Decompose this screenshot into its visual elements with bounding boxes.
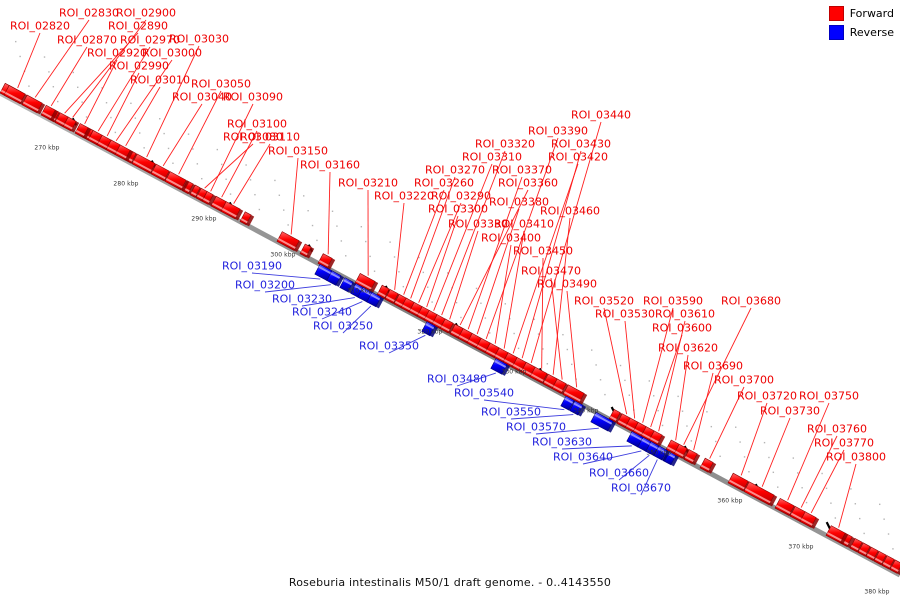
leader-line: [625, 321, 635, 418]
gene-label: ROI_03760: [807, 424, 867, 435]
gene-label: ROI_03620: [658, 343, 718, 354]
minor-tick-dot: [629, 395, 630, 396]
minor-tick-dot: [28, 85, 29, 86]
leader-line: [328, 172, 330, 254]
gene-label: ROI_03700: [714, 375, 774, 386]
minor-tick-dot: [423, 272, 424, 273]
gene-label: ROI_03030: [169, 34, 229, 45]
gene-label: ROI_03200: [235, 280, 295, 291]
gene-label: ROI_03110: [240, 132, 300, 143]
minor-tick-dot: [283, 209, 284, 210]
axis-tick-label: 370 kbp: [788, 544, 813, 551]
gene-label: ROI_03210: [338, 178, 398, 189]
minor-tick-dot: [489, 332, 490, 333]
minor-tick-dot: [706, 411, 707, 412]
gene-label: ROI_03230: [272, 294, 332, 305]
minor-tick-dot: [53, 86, 54, 87]
gene-label: ROI_03530: [595, 309, 655, 320]
minor-tick-dot: [259, 209, 260, 210]
axis-tick-label: 310 kbp: [347, 288, 372, 295]
minor-tick-dot: [398, 271, 399, 272]
gene-label: ROI_03460: [540, 206, 600, 217]
gene-label: ROI_03570: [506, 422, 566, 433]
minor-tick-dot: [130, 103, 131, 104]
axis-tick-label: 360 kbp: [717, 498, 742, 505]
minor-tick-dot: [431, 301, 432, 302]
minor-tick-dot: [657, 410, 658, 411]
leader-line: [495, 245, 511, 344]
minor-tick-dot: [365, 241, 366, 242]
gene-label: ROI_02990: [109, 61, 169, 72]
minor-tick-dot: [715, 441, 716, 442]
minor-tick-dot: [624, 380, 625, 381]
minor-tick-dot: [307, 210, 308, 211]
minor-tick-dot: [110, 117, 111, 118]
gene-label: ROI_03670: [611, 483, 671, 494]
minor-tick-dot: [389, 241, 390, 242]
minor-tick-dot: [855, 503, 856, 504]
gene-label: ROI_03480: [427, 374, 487, 385]
minor-tick-dot: [77, 87, 78, 88]
minor-tick-dot: [427, 287, 428, 288]
gene-label: ROI_02830: [59, 8, 119, 19]
minor-tick-dot: [159, 118, 160, 119]
leader-line: [788, 403, 829, 500]
minor-tick-dot: [245, 164, 246, 165]
minor-tick-dot: [336, 225, 337, 226]
leader-line: [839, 464, 856, 528]
legend-item-forward: Forward: [829, 6, 894, 21]
minor-tick-dot: [649, 380, 650, 381]
minor-tick-dot: [662, 425, 663, 426]
minor-tick-dot: [801, 487, 802, 488]
gene-label: ROI_03630: [532, 437, 592, 448]
axis-tick-label: 300 kbp: [270, 252, 295, 259]
minor-tick-dot: [691, 440, 692, 441]
gene-label: ROI_03680: [721, 296, 781, 307]
minor-tick-dot: [143, 147, 144, 148]
gene-label: ROI_03370: [492, 165, 552, 176]
minor-tick-dot: [748, 471, 749, 472]
minor-tick-dot: [168, 148, 169, 149]
leader-line: [659, 321, 685, 431]
gene-label: ROI_03520: [574, 296, 634, 307]
legend-label-reverse: Reverse: [850, 26, 894, 39]
minor-tick-dot: [201, 178, 202, 179]
minor-tick-dot: [345, 255, 346, 256]
gene-label: ROI_03770: [814, 438, 874, 449]
axis-tick-label: 280 kbp: [113, 181, 138, 188]
minor-tick-dot: [332, 211, 333, 212]
minor-tick-dot: [115, 132, 116, 133]
gene-label: ROI_03430: [551, 139, 611, 150]
gene-label: ROI_03250: [313, 321, 373, 332]
gene-label: ROI_03610: [655, 309, 715, 320]
gene-label: ROI_03470: [521, 266, 581, 277]
gene-label: ROI_03010: [130, 75, 190, 86]
gene-label: ROI_03720: [737, 391, 797, 402]
gene-label: ROI_03640: [553, 452, 613, 463]
minor-tick-dot: [513, 333, 514, 334]
minor-tick-dot: [595, 364, 596, 365]
leader-line: [513, 164, 578, 353]
gene-label: ROI_03440: [571, 110, 631, 121]
axis-tick-label: 290 kbp: [191, 216, 216, 223]
minor-tick-dot: [686, 425, 687, 426]
minor-tick-dot: [361, 226, 362, 227]
gene-label: ROI_03300: [428, 204, 488, 215]
gene-label: ROI_03390: [528, 126, 588, 137]
minor-tick-dot: [480, 303, 481, 304]
legend-item-reverse: Reverse: [829, 25, 894, 40]
leader-line: [450, 231, 478, 319]
minor-tick-dot: [403, 286, 404, 287]
minor-tick-dot: [279, 195, 280, 196]
gene-label: ROI_03350: [359, 341, 419, 352]
minor-tick-dot: [456, 302, 457, 303]
gene-label: ROI_02820: [10, 21, 70, 32]
minor-tick-dot: [883, 518, 884, 519]
minor-tick-dot: [287, 224, 288, 225]
minor-tick-dot: [806, 502, 807, 503]
minor-tick-dot: [542, 348, 543, 349]
gene-label: ROI_03590: [643, 296, 703, 307]
minor-tick-dot: [892, 548, 893, 549]
minor-tick-dot: [485, 317, 486, 318]
gene-label: ROI_03800: [826, 452, 886, 463]
minor-tick-dot: [374, 271, 375, 272]
minor-tick-dot: [744, 456, 745, 457]
minor-tick-dot: [571, 364, 572, 365]
minor-tick-dot: [830, 502, 831, 503]
minor-tick-dot: [81, 101, 82, 102]
gene-label: ROI_03540: [454, 388, 514, 399]
minor-tick-dot: [221, 164, 222, 165]
minor-tick-dot: [620, 365, 621, 366]
minor-tick-dot: [735, 427, 736, 428]
gene-label: ROI_03420: [548, 152, 608, 163]
axis-tick-label: 340 kbp: [573, 408, 598, 415]
figure-caption: Roseburia intestinalis M50/1 draft genom…: [0, 576, 900, 589]
gene-label: ROI_03450: [513, 246, 573, 257]
gene-label: ROI_03220: [374, 191, 434, 202]
minor-tick-dot: [505, 303, 506, 304]
minor-tick-dot: [768, 457, 769, 458]
minor-tick-dot: [826, 488, 827, 489]
minor-tick-dot: [547, 363, 548, 364]
minor-tick-dot: [653, 395, 654, 396]
minor-tick-dot: [217, 149, 218, 150]
minor-tick-dot: [44, 56, 45, 57]
gene-label: ROI_03270: [425, 165, 485, 176]
minor-tick-dot: [863, 533, 864, 534]
axis-tick-label: 270 kbp: [34, 145, 59, 152]
genome-diagram-figure: 270 kbp280 kbp290 kbp300 kbp310 kbp320 k…: [0, 0, 900, 600]
minor-tick-dot: [274, 180, 275, 181]
gene-feature-blocks: [0, 83, 900, 575]
gene-label: ROI_03160: [300, 160, 360, 171]
minor-tick-dot: [139, 132, 140, 133]
leader-line: [163, 104, 202, 166]
gene-label: ROI_03090: [223, 92, 283, 103]
minor-tick-dot: [57, 101, 58, 102]
gene-label: ROI_03290: [431, 191, 491, 202]
minor-tick-dot: [682, 411, 683, 412]
minor-tick-dot: [567, 349, 568, 350]
minor-tick-dot: [777, 486, 778, 487]
gene-label: ROI_03150: [268, 146, 328, 157]
leader-line: [694, 373, 713, 450]
legend-label-forward: Forward: [850, 7, 894, 20]
minor-tick-dot: [797, 472, 798, 473]
minor-tick-dot: [562, 334, 563, 335]
leader-line: [291, 158, 298, 234]
reverse-color-swatch: [829, 25, 844, 40]
minor-tick-dot: [764, 442, 765, 443]
minor-tick-dot: [879, 504, 880, 505]
leader-line: [18, 33, 40, 88]
minor-tick-dot: [518, 348, 519, 349]
label-leader-lines: [18, 20, 856, 528]
gene-label: ROI_03490: [537, 279, 597, 290]
minor-tick-dot: [19, 56, 20, 57]
strand-legend: Forward Reverse: [829, 6, 894, 40]
leader-line: [205, 144, 253, 188]
gene-label: ROI_03750: [799, 391, 859, 402]
minor-tick-dot: [369, 256, 370, 257]
minor-tick-dot: [230, 193, 231, 194]
gene-label: ROI_03190: [222, 261, 282, 272]
gene-label: ROI_03310: [462, 152, 522, 163]
leader-line: [234, 144, 270, 204]
minor-tick-dot: [163, 133, 164, 134]
minor-tick-dot: [591, 349, 592, 350]
minor-tick-dot: [859, 518, 860, 519]
gene-label: ROI_03730: [760, 406, 820, 417]
gene-label: ROI_03600: [652, 323, 712, 334]
minor-tick-dot: [821, 473, 822, 474]
gene-label: ROI_03400: [481, 233, 541, 244]
axis-tick-label: 350 kbp: [646, 450, 671, 457]
gene-label: ROI_03550: [481, 407, 541, 418]
minor-tick-dot: [15, 41, 16, 42]
leader-line: [126, 87, 160, 146]
forward-color-swatch: [829, 6, 844, 21]
leader-line: [51, 47, 87, 106]
minor-tick-dot: [172, 163, 173, 164]
minor-tick-dot: [197, 163, 198, 164]
minor-tick-dot: [711, 426, 712, 427]
minor-tick-dot: [254, 194, 255, 195]
gene-label: ROI_03100: [227, 119, 287, 130]
leader-line: [395, 203, 404, 290]
minor-tick-dot: [312, 225, 313, 226]
minor-tick-dot: [394, 256, 395, 257]
minor-tick-dot: [73, 72, 74, 73]
minor-tick-dot: [135, 117, 136, 118]
minor-tick-dot: [316, 240, 317, 241]
minor-tick-dot: [739, 441, 740, 442]
minor-tick-dot: [850, 488, 851, 489]
gene-label: ROI_03660: [589, 468, 649, 479]
minor-tick-dot: [835, 517, 836, 518]
gene-label: ROI_02900: [116, 8, 176, 19]
axis-tick-label: 380 kbp: [864, 589, 889, 596]
minor-tick-dot: [677, 396, 678, 397]
minor-tick-dot: [106, 102, 107, 103]
minor-tick-dot: [48, 71, 49, 72]
minor-tick-dot: [250, 179, 251, 180]
minor-tick-dot: [192, 148, 193, 149]
gene-label: ROI_03320: [475, 139, 535, 150]
gene-label: ROI_03360: [498, 178, 558, 189]
leader-line: [604, 308, 627, 414]
leader-line: [551, 278, 562, 380]
minor-tick-dot: [719, 456, 720, 457]
axis-tick-label: 330 kbp: [501, 369, 526, 376]
gene-label: ROI_03410: [494, 219, 554, 230]
gene-label: ROI_02870: [57, 35, 117, 46]
minor-tick-dot: [600, 379, 601, 380]
minor-tick-dot: [341, 240, 342, 241]
gene-label: ROI_02890: [108, 21, 168, 32]
axis-tick-label: 320 kbp: [417, 329, 442, 336]
gene-label: ROI_03260: [414, 178, 474, 189]
gene-label: ROI_02920: [87, 48, 147, 59]
minor-tick-dot: [888, 533, 889, 534]
gene-label: ROI_03240: [292, 307, 352, 318]
minor-tick-dot: [86, 116, 87, 117]
minor-tick-dot: [476, 288, 477, 289]
minor-tick-dot: [793, 457, 794, 458]
minor-tick-dot: [460, 317, 461, 318]
minor-tick-dot: [225, 179, 226, 180]
minor-tick-dot: [188, 133, 189, 134]
minor-tick-dot: [303, 195, 304, 196]
minor-tick-dot: [604, 394, 605, 395]
gene-label: ROI_03050: [191, 79, 251, 90]
gene-label: ROI_03000: [142, 48, 202, 59]
minor-tick-dot: [773, 472, 774, 473]
leader-line: [762, 418, 790, 487]
gene-label: ROI_03690: [683, 361, 743, 372]
